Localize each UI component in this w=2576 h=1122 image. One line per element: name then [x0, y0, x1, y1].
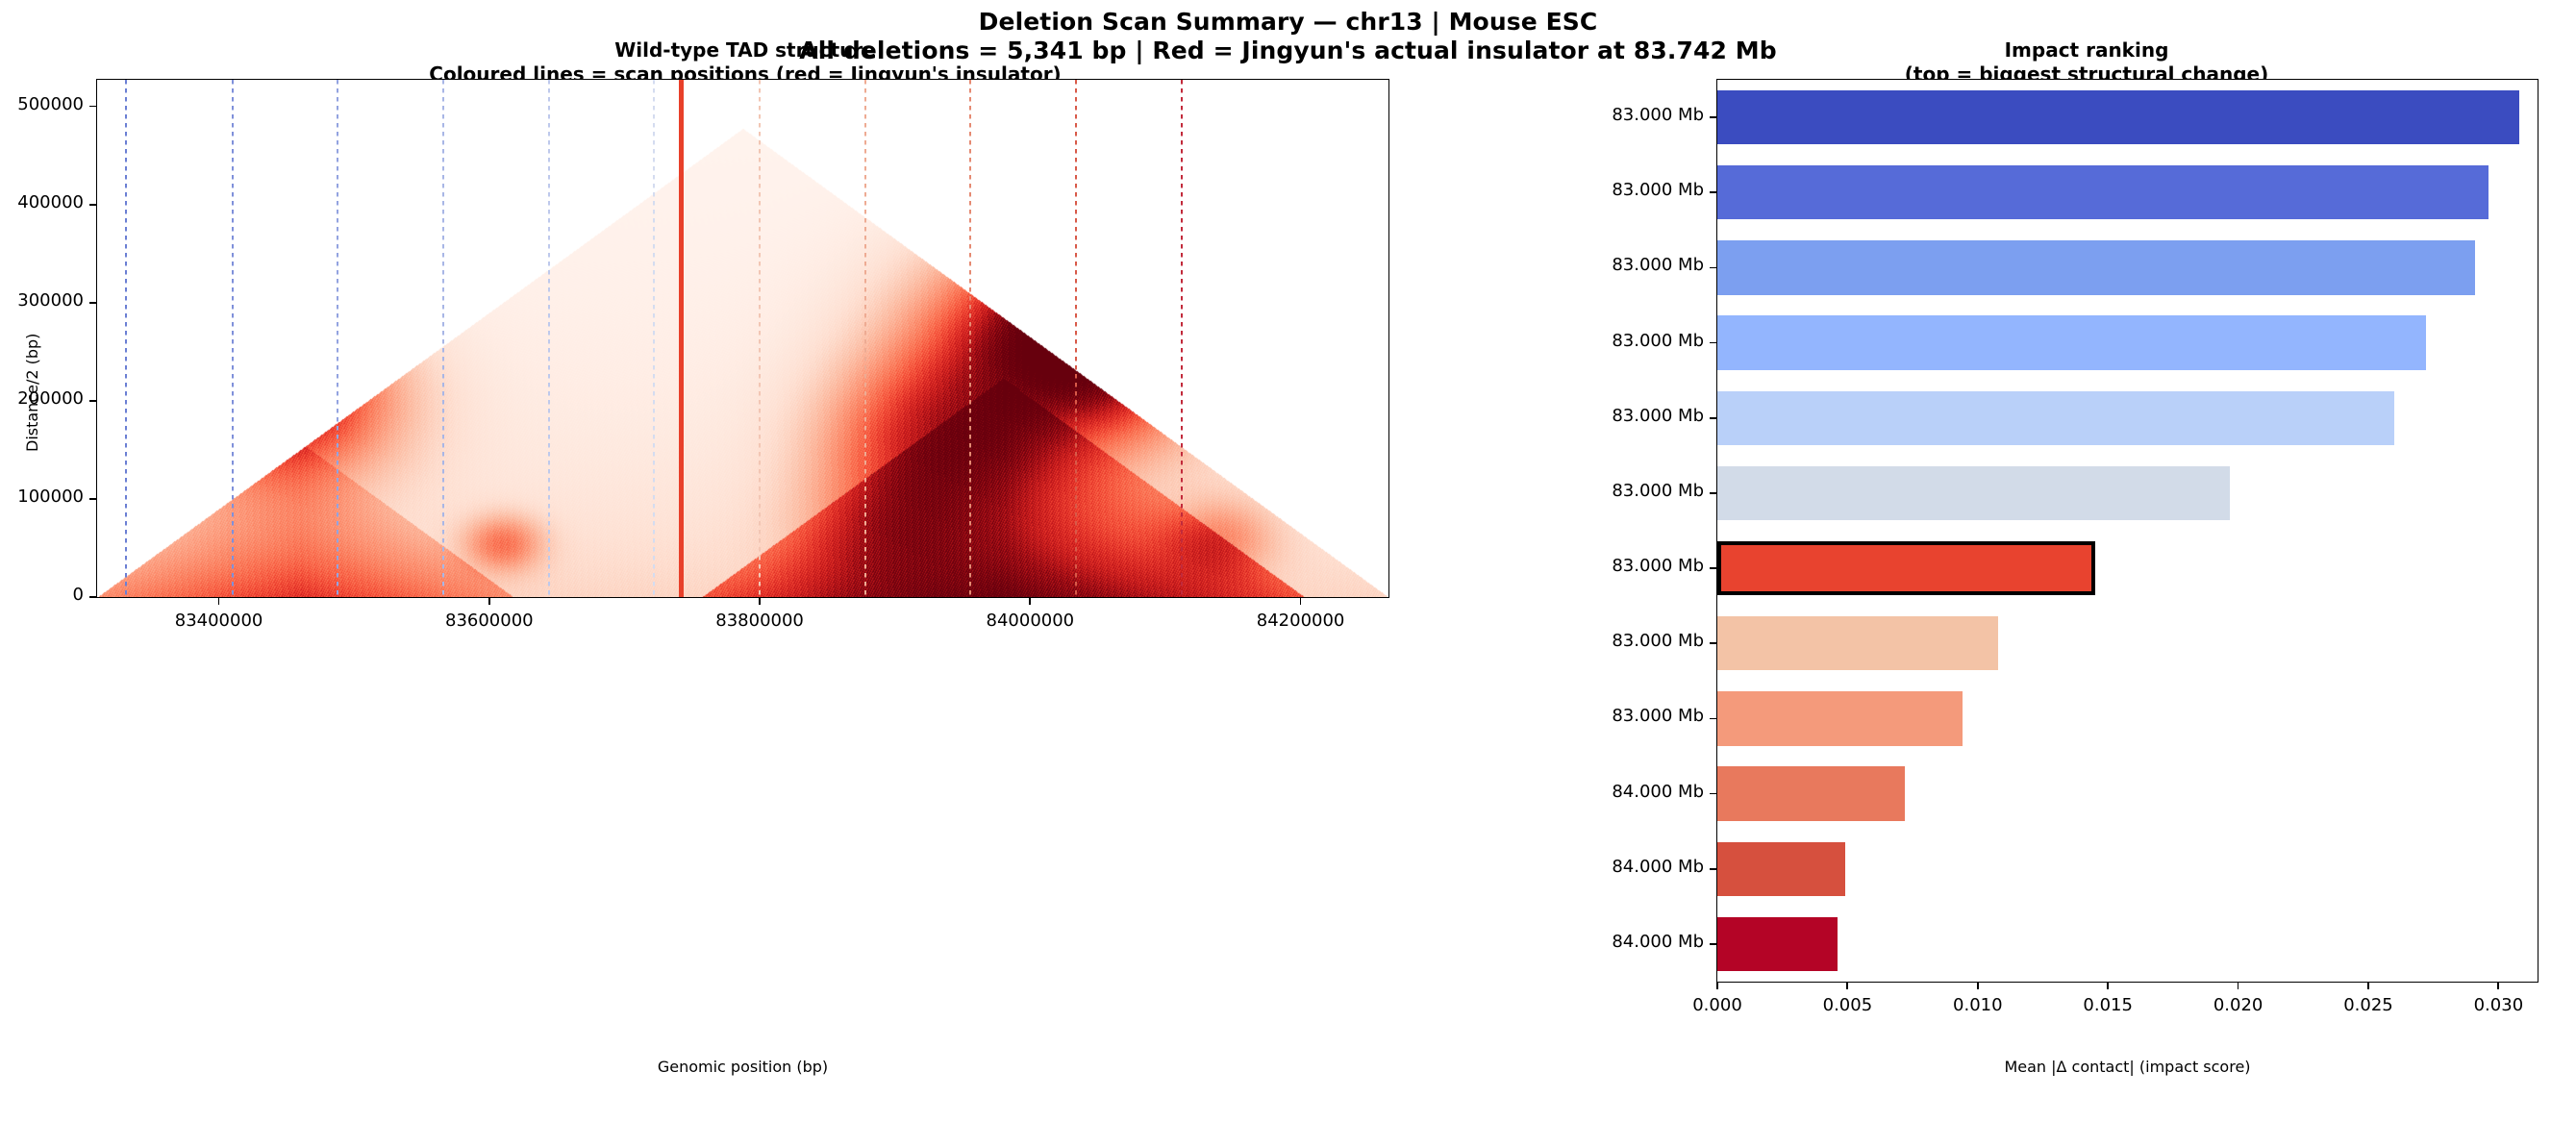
impact-bar[interactable] [1717, 90, 2519, 144]
impact-category-label: 84.000 Mb [1525, 857, 1704, 877]
impact-category-label: 83.000 Mb [1525, 255, 1704, 275]
hic-ytick-mark [89, 596, 97, 598]
impact-ranking-plot-area [1717, 80, 2538, 982]
impact-category-label: 84.000 Mb [1525, 932, 1704, 952]
impact-xtick-mark [2497, 982, 2499, 989]
impact-ytick-mark [1710, 191, 1717, 193]
scan-position-line-4 [548, 80, 550, 597]
hic-xtick-label: 83800000 [685, 611, 835, 631]
impact-xtick-mark [2107, 982, 2109, 989]
hic-xtick-mark [1029, 597, 1031, 605]
impact-bar-row[interactable] [1717, 917, 2538, 971]
impact-ytick-mark [1710, 567, 1717, 569]
hic-xtick-mark [759, 597, 761, 605]
impact-xtick-label: 0.025 [2301, 995, 2436, 1015]
impact-bar-row[interactable] [1717, 466, 2538, 520]
hic-ytick-mark [89, 106, 97, 108]
impact-category-label: 83.000 Mb [1525, 105, 1704, 125]
impact-bar[interactable] [1717, 315, 2426, 369]
impact-xtick-label: 0.010 [1911, 995, 2045, 1015]
hic-ytick-label: 200000 [0, 388, 84, 409]
hic-ytick-label: 400000 [0, 192, 84, 212]
scan-position-line-8 [864, 80, 866, 597]
hic-heatmap-plot-area [97, 80, 1388, 597]
impact-category-label: 83.000 Mb [1525, 406, 1704, 426]
hic-xtick-mark [488, 597, 490, 605]
scan-position-line-2 [337, 80, 338, 597]
hic-ytick-mark [89, 204, 97, 206]
impact-bar-row[interactable] [1717, 842, 2538, 896]
impact-bar[interactable] [1717, 842, 1845, 896]
hic-xtick-label: 84200000 [1226, 611, 1376, 631]
impact-bar-row[interactable] [1717, 616, 2538, 670]
impact-xtick-label: 0.015 [2040, 995, 2175, 1015]
impact-ytick-mark [1710, 417, 1717, 419]
hic-xtick-mark [1300, 597, 1302, 605]
hic-ytick-mark [89, 400, 97, 402]
hic-xtick-label: 83600000 [414, 611, 564, 631]
impact-ytick-mark [1710, 492, 1717, 494]
impact-xtick-label: 0.030 [2431, 995, 2565, 1015]
matplotlib-figure: Deletion Scan Summary — chr13 | Mouse ES… [0, 0, 2576, 1122]
impact-xtick-label: 0.020 [2171, 995, 2306, 1015]
hic-xtick-mark [218, 597, 220, 605]
hic-yaxis-label: Distance/2 (bp) [23, 334, 41, 452]
impact-xtick-label: 0.000 [1650, 995, 1785, 1015]
impact-ytick-mark [1710, 943, 1717, 945]
impact-bar[interactable] [1717, 766, 1905, 820]
suptitle-line-1: Deletion Scan Summary — chr13 | Mouse ES… [0, 8, 2576, 37]
impact-xtick-mark [2238, 982, 2239, 989]
insulator-line-highlight [679, 80, 684, 597]
impact-ytick-mark [1710, 342, 1717, 344]
scan-position-line-7 [759, 80, 761, 597]
impact-xtick-mark [1716, 982, 1718, 989]
hic-ytick-label: 100000 [0, 486, 84, 507]
impact-category-label: 83.000 Mb [1525, 481, 1704, 501]
impact-bar-row[interactable] [1717, 391, 2538, 445]
hic-xtick-label: 84000000 [955, 611, 1105, 631]
scan-position-line-3 [442, 80, 444, 597]
impact-bar[interactable] [1717, 165, 2488, 219]
scan-position-line-11 [1181, 80, 1183, 597]
scan-position-line-0 [125, 80, 127, 597]
impact-ytick-mark [1710, 793, 1717, 795]
hic-ytick-label: 300000 [0, 290, 84, 311]
hic-xtick-label: 83400000 [144, 611, 294, 631]
impact-ytick-mark [1710, 868, 1717, 870]
impact-category-label: 83.000 Mb [1525, 631, 1704, 651]
impact-bar[interactable] [1717, 391, 2394, 445]
impact-bar-row[interactable] [1717, 90, 2538, 144]
impact-category-label: 83.000 Mb [1525, 706, 1704, 726]
impact-ytick-mark [1710, 642, 1717, 644]
hic-ytick-label: 0 [0, 585, 84, 605]
impact-bar-row[interactable] [1717, 691, 2538, 745]
scan-position-line-9 [969, 80, 971, 597]
scan-position-line-10 [1075, 80, 1077, 597]
impact-bar-row[interactable] [1717, 541, 2538, 595]
impact-category-label: 83.000 Mb [1525, 556, 1704, 576]
impact-bar-selected[interactable] [1717, 541, 2095, 595]
impact-xtick-mark [1977, 982, 1979, 989]
impact-bar-row[interactable] [1717, 240, 2538, 294]
impact-ytick-mark [1710, 267, 1717, 269]
impact-bar[interactable] [1717, 240, 2475, 294]
right-title-line-1: Impact ranking [1635, 38, 2538, 62]
left-title-line-1: Wild-type TAD structure [96, 38, 1394, 62]
impact-xtick-label: 0.005 [1780, 995, 1914, 1015]
impact-xtick-mark [2367, 982, 2369, 989]
impact-bar-row[interactable] [1717, 165, 2538, 219]
impact-bar-row[interactable] [1717, 315, 2538, 369]
hic-contact-map-canvas [97, 80, 1388, 597]
impact-bar[interactable] [1717, 691, 1963, 745]
impact-bar-row[interactable] [1717, 766, 2538, 820]
hic-ytick-label: 500000 [0, 94, 84, 114]
scan-position-line-1 [232, 80, 234, 597]
hic-ytick-mark [89, 302, 97, 304]
impact-ytick-mark [1710, 718, 1717, 720]
hic-ytick-mark [89, 498, 97, 500]
impact-ytick-mark [1710, 116, 1717, 118]
impact-xaxis-label: Mean |Δ contact| (impact score) [1716, 1058, 2538, 1076]
impact-bar[interactable] [1717, 616, 1998, 670]
impact-category-label: 83.000 Mb [1525, 331, 1704, 351]
impact-bar[interactable] [1717, 917, 1838, 971]
scan-position-line-5 [653, 80, 655, 597]
hic-xaxis-label: Genomic position (bp) [96, 1058, 1389, 1076]
impact-xtick-mark [1846, 982, 1848, 989]
impact-category-label: 83.000 Mb [1525, 180, 1704, 200]
impact-bar[interactable] [1717, 466, 2230, 520]
impact-category-label: 84.000 Mb [1525, 782, 1704, 802]
